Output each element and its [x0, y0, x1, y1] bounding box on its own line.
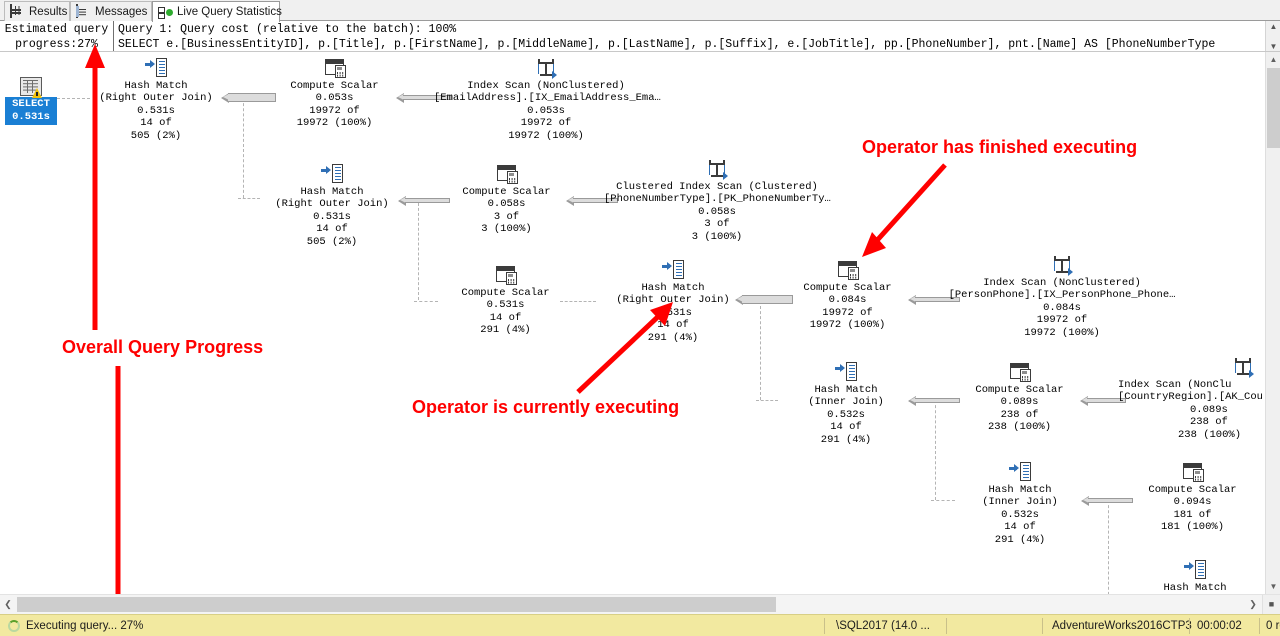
tab-messages-label: Messages: [95, 6, 147, 18]
operator-time: 0.531s: [267, 211, 397, 223]
annotation-overall-query-progress: Overall Query Progress: [62, 337, 263, 358]
operator-name: Hash Match: [959, 484, 1081, 496]
status-elapsed-time: 00:00:02: [1197, 615, 1242, 636]
vertical-scroll-thumb[interactable]: [1267, 68, 1280, 148]
operator-compute-scalar-3[interactable]: Compute Scalar 0.531s 14 of 291 (4%): [449, 265, 562, 337]
tab-results[interactable]: Results: [4, 1, 70, 21]
annotation-operator-currently-executing: Operator is currently executing: [412, 397, 679, 418]
operator-rows: 181 of: [1136, 509, 1249, 521]
operator-compute-scalar-6[interactable]: Compute Scalar 0.094s 181 of 181 (100%): [1136, 462, 1249, 534]
operator-subtitle: (Right Outer Join): [267, 198, 397, 210]
operator-subtitle: [CountryRegion].[AK_Cou: [1118, 391, 1265, 403]
plan-connector-dotted: [243, 98, 244, 198]
operator-total: 19972 (100%): [434, 130, 658, 142]
annotation-operator-finished-executing: Operator has finished executing: [862, 137, 1137, 158]
operator-index-scan-personphone[interactable]: Index Scan (NonClustered) [PersonPhone].…: [944, 255, 1180, 339]
operator-total: 505 (2%): [91, 130, 221, 142]
operator-time: 0.058s: [604, 206, 830, 218]
operator-name: Hash Match: [267, 186, 397, 198]
operator-hash-match-1[interactable]: Hash Match (Right Outer Join) 0.531s 14 …: [91, 58, 221, 142]
operator-time: 0.058s: [450, 198, 563, 210]
message-icon: [76, 5, 91, 18]
scroll-left-icon[interactable]: ❮: [0, 595, 16, 614]
scroll-right-icon[interactable]: ❯: [1245, 595, 1261, 614]
operator-name: Hash Match: [785, 384, 907, 396]
operator-rows: 238 of: [1118, 416, 1265, 428]
operator-total: 3 (100%): [450, 223, 563, 235]
operator-name: Index Scan (NonClu: [1118, 379, 1265, 391]
hash-match-icon: [145, 58, 167, 78]
operator-hash-match-2[interactable]: Hash Match (Right Outer Join) 0.531s 14 …: [267, 164, 397, 248]
operator-time: 0.084s: [791, 294, 904, 306]
operator-name: Compute Scalar: [791, 282, 904, 294]
execution-plan-canvas[interactable]: SELECT 0.531s Hash Match (Right Outer Jo…: [0, 52, 1265, 594]
hash-match-icon: [835, 362, 857, 382]
operator-time: 0.531s: [449, 299, 562, 311]
index-scan-icon: [535, 58, 557, 78]
operator-index-scan-email[interactable]: Index Scan (NonClustered) [EmailAddress]…: [434, 58, 658, 142]
operator-time: 0.089s: [963, 396, 1076, 408]
plan-connector-arrow: [908, 396, 960, 405]
operator-name: Index Scan (NonClustered): [944, 277, 1180, 289]
scroll-corner-resize[interactable]: ■: [1262, 595, 1280, 614]
status-executing-query: Executing query... 27%: [8, 615, 143, 636]
operator-time: 0.532s: [959, 509, 1081, 521]
tab-messages[interactable]: Messages: [70, 1, 152, 21]
tab-results-label: Results: [29, 6, 67, 18]
operator-subtitle: (Inner Join): [959, 496, 1081, 508]
plan-connector-dotted: [414, 301, 438, 302]
plan-connector-dotted: [935, 400, 936, 500]
query-sql-line: SELECT e.[BusinessEntityID], p.[Title], …: [118, 37, 1265, 52]
plan-connector-dotted: [238, 198, 260, 199]
operator-rows: 3 of: [604, 218, 830, 230]
operator-total: 3 (100%): [604, 231, 830, 243]
tab-live-query-statistics-label: Live Query Statistics: [177, 6, 282, 18]
operator-time: 0.094s: [1136, 496, 1249, 508]
operator-clustered-index-scan-phonenumbertype[interactable]: Clustered Index Scan (Clustered) [PhoneN…: [604, 159, 830, 243]
live-query-statistics-pane: Results Messages Live Query Statistics E…: [0, 0, 1280, 636]
scroll-up-icon[interactable]: ▲: [1266, 21, 1280, 32]
operator-name: Compute Scalar: [449, 287, 562, 299]
operator-total: 505 (2%): [267, 236, 397, 248]
status-database: AdventureWorks2016CTP3: [1052, 615, 1192, 636]
scroll-down-icon[interactable]: ▼: [1266, 579, 1280, 594]
plan-connector-arrow: [398, 196, 450, 205]
operator-rows: 19972 of: [944, 314, 1180, 326]
operator-rows: 19972 of: [434, 117, 658, 129]
operator-subtitle: (Right Outer Join): [608, 294, 738, 306]
operator-rows: 14 of: [91, 117, 221, 129]
plan-connector-dotted: [560, 301, 596, 302]
operator-name: Compute Scalar: [450, 186, 563, 198]
operator-total: 238 (100%): [963, 421, 1076, 433]
operator-hash-match-5[interactable]: Hash Match (Inner Join) 0.532s 14 of 291…: [959, 462, 1081, 546]
operator-subtitle: (Right Outer Join): [91, 92, 221, 104]
select-result-node[interactable]: SELECT 0.531s: [5, 77, 57, 125]
index-scan-icon: [1232, 357, 1254, 377]
query-cost-text: Query 1: Query cost (relative to the bat…: [115, 21, 1265, 52]
index-scan-icon: [1051, 255, 1073, 275]
operator-rows: 14 of: [449, 312, 562, 324]
operator-rows: 14 of: [267, 223, 397, 235]
plan-connector-arrow: [735, 295, 793, 304]
spinner-icon: [8, 620, 20, 632]
live-query-statistics-icon: [158, 6, 173, 19]
scroll-down-icon[interactable]: ▼: [1266, 41, 1280, 52]
compute-scalar-icon: [837, 260, 859, 280]
operator-name: Compute Scalar: [1136, 484, 1249, 496]
operator-total: 291 (4%): [785, 434, 907, 446]
operator-total: 291 (4%): [608, 332, 738, 344]
estimated-query-progress-line1: Estimated query: [0, 22, 113, 37]
canvas-horizontal-scrollbar[interactable]: ❮ ❯ ■: [0, 594, 1280, 614]
compute-scalar-icon: [495, 265, 517, 285]
select-badge: SELECT 0.531s: [5, 97, 57, 125]
operator-time: 0.089s: [1118, 404, 1265, 416]
compute-scalar-icon: [496, 164, 518, 184]
estimated-query-progress-line2: progress:27%: [0, 37, 113, 52]
operator-time: 0.053s: [277, 92, 392, 104]
hash-match-icon: [321, 164, 343, 184]
operator-time: 0.084s: [944, 302, 1180, 314]
operator-subtitle: [PhoneNumberType].[PK_PhoneNumberTy…: [604, 193, 830, 205]
scroll-up-icon[interactable]: ▲: [1266, 52, 1280, 67]
operator-rows: 19972 of: [277, 105, 392, 117]
operator-compute-scalar-4[interactable]: Compute Scalar 0.084s 19972 of 19972 (10…: [791, 260, 904, 332]
operator-index-scan-countryregion[interactable]: Index Scan (NonClu [CountryRegion].[AK_C…: [1118, 357, 1265, 441]
status-executing-query-label: Executing query... 27%: [26, 620, 143, 632]
estimated-query-progress: Estimated query progress:27%: [0, 21, 114, 52]
operator-hash-match-3[interactable]: Hash Match (Right Outer Join) 0.531s 14 …: [608, 260, 738, 344]
operator-time: 0.531s: [608, 307, 738, 319]
status-bar: Executing query... 27% \SQL2017 (14.0 ..…: [0, 614, 1280, 636]
compute-scalar-icon: [324, 58, 346, 78]
hash-match-icon: [1009, 462, 1031, 482]
operator-total: 19972 (100%): [277, 117, 392, 129]
operator-hash-match-4[interactable]: Hash Match (Inner Join) 0.532s 14 of 291…: [785, 362, 907, 446]
plan-connector-dotted: [1108, 500, 1109, 594]
grid-icon: [10, 5, 25, 18]
query-cost-line: Query 1: Query cost (relative to the bat…: [118, 22, 1265, 37]
operator-name: Compute Scalar: [277, 80, 392, 92]
operator-time: 0.053s: [434, 105, 658, 117]
canvas-vertical-scrollbar[interactable]: ▲ ▼: [1265, 52, 1280, 594]
status-row-count: 0 rows: [1266, 615, 1280, 636]
operator-rows: 14 of: [785, 421, 907, 433]
operator-compute-scalar-5[interactable]: Compute Scalar 0.089s 238 of 238 (100%): [963, 362, 1076, 434]
plan-connector-dotted: [931, 500, 955, 501]
status-server: \SQL2017 (14.0 ...: [836, 615, 930, 636]
operator-time: 0.532s: [785, 409, 907, 421]
index-scan-icon: [706, 159, 728, 179]
select-time: 0.531s: [5, 111, 57, 124]
operator-compute-scalar-2[interactable]: Compute Scalar 0.058s 3 of 3 (100%): [450, 164, 563, 236]
operator-rows: 14 of: [959, 521, 1081, 533]
operator-time: 0.531s: [91, 105, 221, 117]
operator-compute-scalar-1[interactable]: Compute Scalar 0.053s 19972 of 19972 (10…: [277, 58, 392, 130]
operator-total: 19972 (100%): [944, 327, 1180, 339]
operator-total: 238 (100%): [1118, 429, 1265, 441]
results-tabstrip: Results Messages Live Query Statistics: [0, 0, 1280, 21]
operator-rows: 238 of: [963, 409, 1076, 421]
operator-subtitle: [EmailAddress].[IX_EmailAddress_Ema…: [434, 92, 658, 104]
operator-total: 291 (4%): [959, 534, 1081, 546]
horizontal-scroll-thumb[interactable]: [17, 597, 776, 612]
select-label: SELECT: [5, 98, 57, 111]
operator-name: Hash Match: [1134, 582, 1256, 594]
plan-connector-arrow: [1081, 496, 1133, 505]
tab-live-query-statistics[interactable]: Live Query Statistics: [152, 1, 280, 22]
results-grid-icon: [20, 77, 42, 96]
operator-name: Hash Match: [91, 80, 221, 92]
operator-rows: 19972 of: [791, 307, 904, 319]
hash-match-icon: [662, 260, 684, 280]
plan-connector-dotted: [756, 400, 778, 401]
hash-match-icon: [1184, 560, 1206, 580]
operator-total: 19972 (100%): [791, 319, 904, 331]
operator-subtitle: (Inner Join): [785, 396, 907, 408]
operator-subtitle: [PersonPhone].[IX_PersonPhone_Phone…: [944, 289, 1180, 301]
plan-connector-dotted: [418, 198, 419, 300]
query-header-scrollbar[interactable]: ▲ ▼: [1265, 21, 1280, 52]
compute-scalar-icon: [1009, 362, 1031, 382]
operator-name: Hash Match: [608, 282, 738, 294]
operator-rows: 14 of: [608, 319, 738, 331]
operator-name: Clustered Index Scan (Clustered): [604, 181, 830, 193]
plan-connector-arrow: [221, 93, 276, 102]
plan-connector-dotted: [760, 301, 761, 400]
compute-scalar-icon: [1182, 462, 1204, 482]
warning-icon-exclamation: [36, 92, 38, 96]
operator-total: 291 (4%): [449, 324, 562, 336]
operator-name: Compute Scalar: [963, 384, 1076, 396]
operator-rows: 3 of: [450, 211, 563, 223]
operator-total: 181 (100%): [1136, 521, 1249, 533]
operator-name: Index Scan (NonClustered): [434, 80, 658, 92]
query-header: Estimated query progress:27% Query 1: Qu…: [0, 21, 1280, 52]
operator-hash-match-6[interactable]: Hash Match: [1134, 560, 1256, 594]
